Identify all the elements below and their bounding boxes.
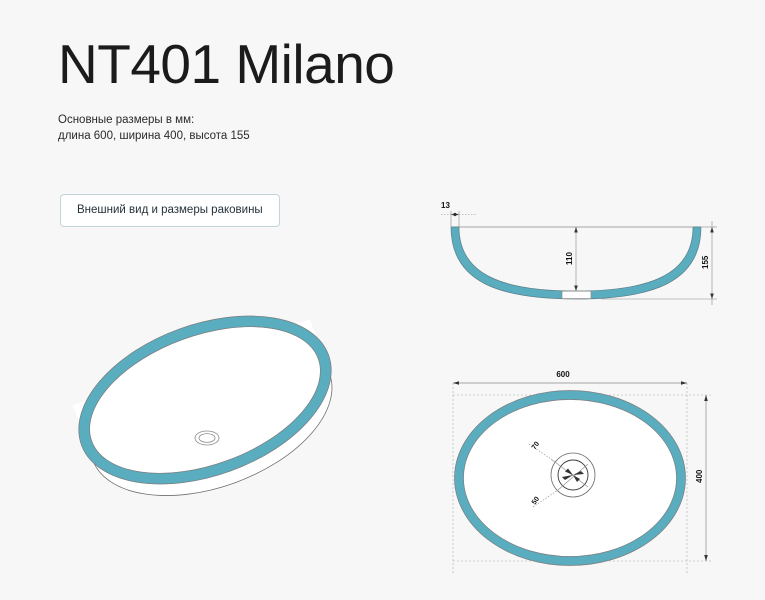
isometric-basin-drawing <box>55 300 355 510</box>
subtitle-line-2: длина 600, ширина 400, высота 155 <box>58 128 250 144</box>
section-basin-drawing: 13 110 155 <box>425 195 725 325</box>
dimension-13: 13 <box>441 201 477 227</box>
dimension-600-label: 600 <box>556 370 570 379</box>
product-drawing-page: NT401 Milano Основные размеры в мм: длин… <box>0 0 765 600</box>
dimension-600: 600 <box>453 370 687 385</box>
page-title: NT401 Milano <box>58 36 394 94</box>
dimension-110-label: 110 <box>565 252 574 265</box>
plan-basin-drawing: 70 50 600 400 <box>425 355 725 595</box>
section-drain-opening <box>562 291 591 298</box>
dimension-155-label: 155 <box>701 255 710 269</box>
dimension-13-label: 13 <box>441 201 450 210</box>
view-appearance-and-dimensions-button[interactable]: Внешний вид и размеры раковины <box>60 194 280 227</box>
dimension-400-label: 400 <box>695 469 704 483</box>
page-subtitle: Основные размеры в мм: длина 600, ширина… <box>58 112 250 144</box>
basin-plan-ring <box>459 395 681 561</box>
subtitle-line-1: Основные размеры в мм: <box>58 112 250 128</box>
dimension-400: 400 <box>695 395 708 561</box>
dimension-110: 110 <box>565 227 578 291</box>
